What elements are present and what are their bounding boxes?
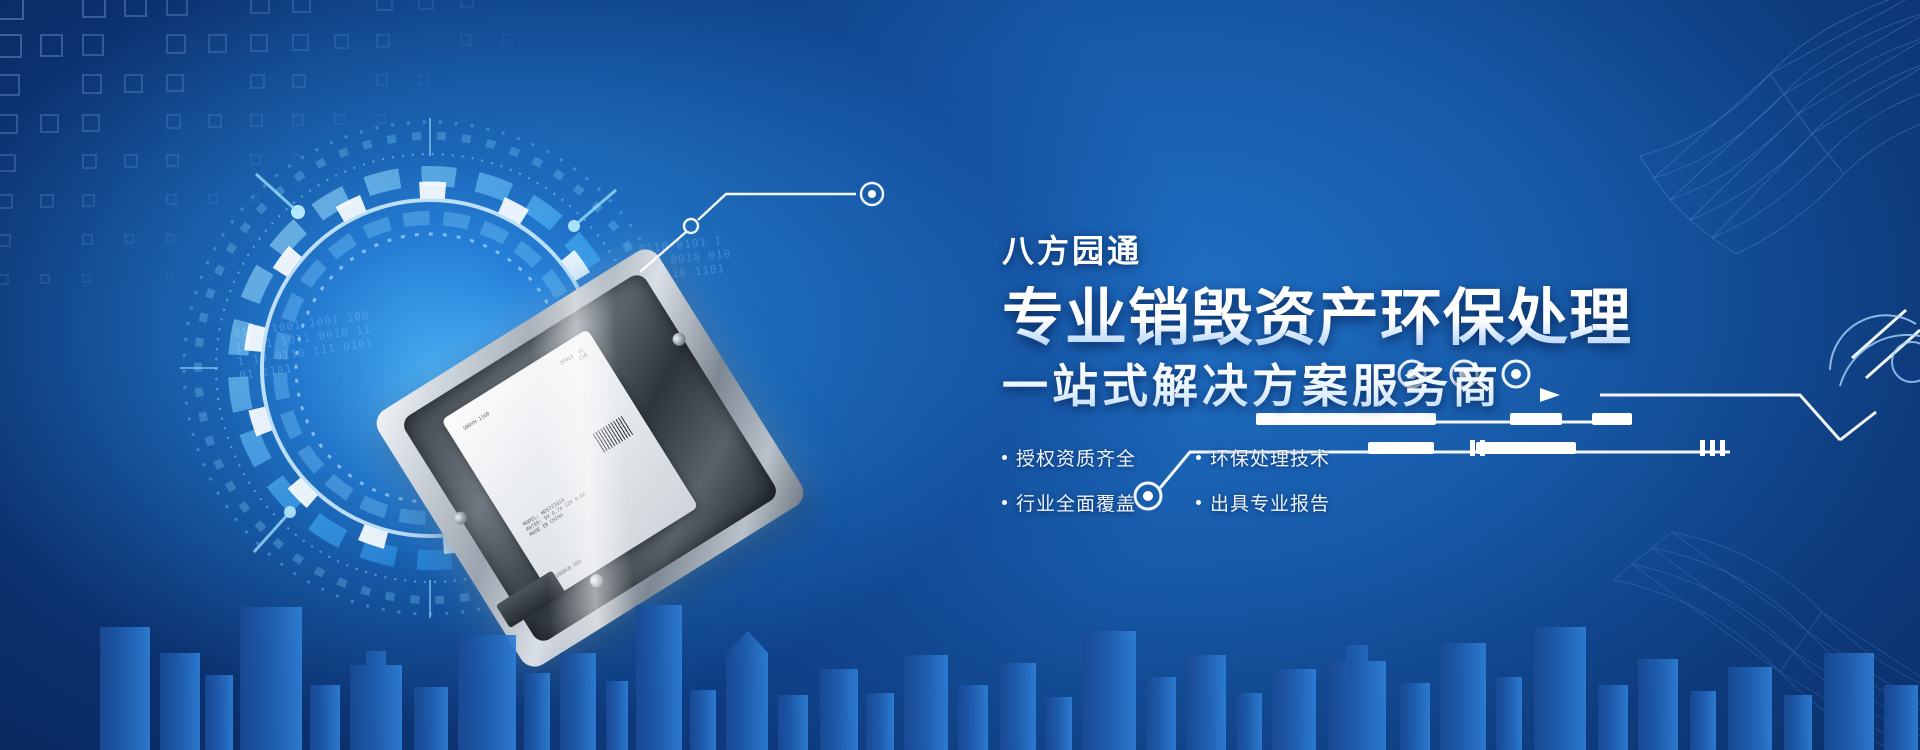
promo-banner: 0110 1001 1001 100 10 01 1011 0010 11 1 … <box>0 0 1920 750</box>
bullet-dot-icon <box>1002 455 1007 460</box>
feature-label: 出具专业报告 <box>1210 489 1330 516</box>
headline: 专业销毁资产环保处理 <box>1002 286 1662 351</box>
banner-copy-block: 八方园通 专业销毁资产环保处理 一站式解决方案服务商 授权资质齐全 环保处理技术… <box>1002 226 1662 516</box>
feature-item: 环保处理技术 <box>1196 444 1366 471</box>
feature-label: 行业全面覆盖 <box>1016 489 1136 516</box>
feature-label: 授权资质齐全 <box>1016 444 1136 471</box>
feature-list: 授权资质齐全 环保处理技术 行业全面覆盖 出具专业报告 <box>1002 444 1662 516</box>
subheadline: 一站式解决方案服务商 <box>1002 361 1662 412</box>
feature-label: 环保处理技术 <box>1210 444 1330 471</box>
drive-label-line-1: SN9YH-1160 <box>462 411 491 432</box>
brand-name: 八方园通 <box>1002 226 1662 272</box>
drive-barcode-icon <box>593 416 633 453</box>
pointer-line-graphic <box>640 176 1000 276</box>
feature-item: 授权资质齐全 <box>1002 444 1172 471</box>
drive-label-line-4: MODEL: HDS721010 RATED: 5V 0.7A 12V 0.6A… <box>522 486 590 538</box>
city-skyline-silhouette <box>0 535 1920 750</box>
feature-item: 行业全面覆盖 <box>1002 489 1172 516</box>
drive-label-line-2: 2T4LV 4l 21B <box>559 347 588 372</box>
bullet-dot-icon <box>1196 500 1201 505</box>
feature-item: 出具专业报告 <box>1196 489 1366 516</box>
bullet-dot-icon <box>1196 455 1201 460</box>
bullet-dot-icon <box>1002 500 1007 505</box>
